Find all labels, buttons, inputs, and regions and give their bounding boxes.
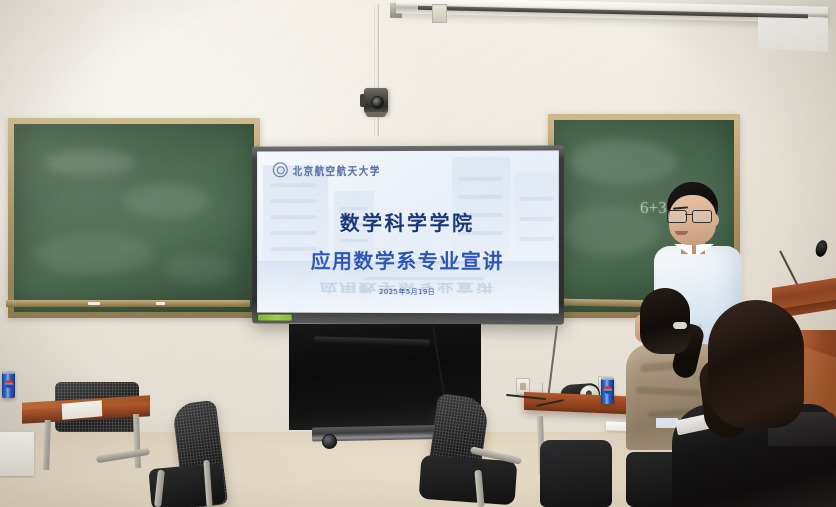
student-hair <box>708 300 804 428</box>
display-brand-badge <box>258 314 292 320</box>
chair-seat-center[interactable] <box>419 455 518 506</box>
slide-title-line-1: 数学科学学院 <box>257 207 559 236</box>
student-front-right <box>672 300 836 507</box>
can-lid <box>2 370 15 374</box>
classroom-camera-icon <box>364 88 388 114</box>
camera-base <box>366 112 386 117</box>
slide-date: 2025年5月19日 <box>257 287 559 298</box>
chalk-stick <box>156 302 165 305</box>
camera-lens-icon <box>371 96 384 109</box>
display-ir-sensor-icon <box>548 316 556 320</box>
light-fixture-tab <box>758 14 828 52</box>
chalk-smudge <box>164 254 234 284</box>
can-lid <box>601 376 614 380</box>
chalk-smudge <box>568 140 678 184</box>
pepsi-can[interactable] <box>2 372 15 398</box>
interactive-display-panel[interactable]: 北京航空航天大学 数学科学学院 应用数学系专业宣讲 应用数学系专业宣讲 2025… <box>252 145 564 324</box>
green-chalkboard-left <box>8 118 260 318</box>
glasses-lens-left <box>667 210 687 223</box>
chalk-smudge <box>562 206 658 256</box>
chalk-stick <box>88 302 100 305</box>
classroom-chair-foreground-left[interactable] <box>540 440 612 507</box>
chalk-smudge <box>124 184 210 218</box>
beihang-seal-icon <box>273 162 288 177</box>
presenter-mouth <box>675 231 688 235</box>
stand-caster <box>322 434 337 449</box>
slide-university-name: 北京航空航天大学 <box>293 162 381 178</box>
chalk-tray-left <box>6 300 250 307</box>
display-screen[interactable]: 北京航空航天大学 数学科学学院 应用数学系专业宣讲 应用数学系专业宣讲 2025… <box>257 150 559 313</box>
glasses-bridge <box>685 214 692 215</box>
eyeglasses-icon <box>667 210 717 221</box>
pepsi-can[interactable] <box>601 378 614 404</box>
glasses-lens-right <box>692 210 712 223</box>
chalk-smudge <box>44 150 134 176</box>
pepsi-logo-icon <box>5 380 13 388</box>
slide-university-logo: 北京航空航天大学 <box>273 162 381 177</box>
chalk-smudge <box>34 234 154 274</box>
slide-title-line-2: 应用数学系专业宣讲 <box>257 245 559 274</box>
paper-stack <box>0 432 34 476</box>
camera-mount-arm <box>360 94 365 107</box>
wall-junction-plate <box>432 4 447 23</box>
classroom-photo-scene: 6+3 <box>0 0 836 507</box>
pepsi-logo-icon <box>604 386 612 394</box>
